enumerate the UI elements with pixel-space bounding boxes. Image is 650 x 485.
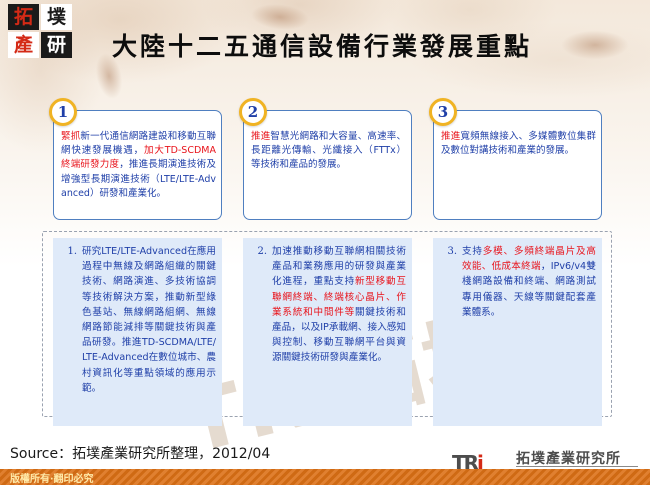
seal-glyph-4: 研 — [41, 32, 72, 58]
list-item-text: 研究LTE/LTE-Advanced在應用過程中無線及網路組織的關鍵技術、網路演… — [82, 244, 216, 396]
list-item: 3. 支持多模、多頻終端晶片及高效能、低成本終端，IPv6/v4雙棧網路設備和終… — [437, 244, 596, 320]
list-item-text: 加速推動移動互聯網相關技術產品和業務應用的研發與產業化進程，重點支持新型移動互聯… — [272, 244, 406, 366]
text-run: 推進 — [441, 131, 460, 142]
callout-box-2: 2 推進智慧光網路和大容量、高速率、長距離光傳輸、光纖接入（FTTx）等技術和產… — [243, 110, 412, 220]
page-title: 大陸十二五通信設備行業發展重點 — [112, 24, 612, 70]
text-run: 寬頻無線接入、多媒體數位集群及數位對講技術和產業的發展。 — [441, 131, 596, 156]
footer-bar: 版權所有‧翻印必究 — [0, 469, 650, 485]
callout-box-1: 1 緊抓新一代通信網路建設和移動互聯網快速發展機遇，加大TD-SCDMA終端研發… — [53, 110, 222, 220]
callout-number-badge-3: 3 — [429, 98, 457, 126]
footer-copyright: 版權所有‧翻印必究 — [10, 470, 93, 485]
tri-seal-logo: 拓 墣 產 研 — [8, 4, 74, 60]
list-item-text: 支持多模、多頻終端晶片及高效能、低成本終端，IPv6/v4雙棧網路設備和終端、網… — [462, 244, 596, 320]
callout-number-badge-1: 1 — [49, 98, 77, 126]
seal-glyph-3: 產 — [8, 32, 39, 58]
callout-number-badge-2: 2 — [239, 98, 267, 126]
text-run: 緊抓 — [61, 131, 80, 142]
list-item: 1. 研究LTE/LTE-Advanced在應用過程中無線及網路組織的關鍵技術、… — [57, 244, 216, 396]
list-item-number: 1. — [57, 244, 82, 259]
seal-glyph-1: 拓 — [8, 4, 39, 30]
tri-logo-rule — [516, 466, 638, 467]
detail-column-1: 1. 研究LTE/LTE-Advanced在應用過程中無線及網路組織的關鍵技術、… — [53, 238, 222, 426]
text-run: 研究LTE/LTE-Advanced在應用過程中無線及網路組織的關鍵技術、網路演… — [82, 246, 216, 394]
list-item: 2. 加速推動移動互聯網相關技術產品和業務應用的研發與產業化進程，重點支持新型移… — [247, 244, 406, 366]
seal-glyph-2: 墣 — [41, 4, 72, 30]
detail-column-3: 3. 支持多模、多頻終端晶片及高效能、低成本終端，IPv6/v4雙棧網路設備和終… — [433, 238, 602, 426]
list-item-number: 2. — [247, 244, 272, 259]
callout-text-2: 推進智慧光網路和大容量、高速率、長距離光傳輸、光纖接入（FTTx）等技術和產品的… — [251, 130, 406, 173]
list-item-number: 3. — [437, 244, 462, 259]
callout-text-3: 推進寬頻無線接入、多媒體數位集群及數位對講技術和產業的發展。 — [441, 130, 596, 158]
text-run: 支持 — [462, 246, 483, 257]
text-run: 推進 — [251, 131, 270, 142]
detail-column-2: 2. 加速推動移動互聯網相關技術產品和業務應用的研發與產業化進程，重點支持新型移… — [243, 238, 412, 426]
source-note: Source：拓墣產業研究所整理，2012/04 — [10, 443, 270, 463]
slide-canvas: TRI拓墣 拓 墣 產 研 大陸十二五通信設備行業發展重點 1 緊抓新一代通信網… — [0, 0, 650, 485]
text-run: 智慧光網路和大容量、高速率、長距離光傳輸、光纖接入（FTTx）等技術和產品的發展… — [251, 131, 406, 170]
callout-box-3: 3 推進寬頻無線接入、多媒體數位集群及數位對講技術和產業的發展。 — [433, 110, 602, 220]
callout-text-1: 緊抓新一代通信網路建設和移動互聯網快速發展機遇，加大TD-SCDMA終端研發力度… — [61, 130, 216, 201]
